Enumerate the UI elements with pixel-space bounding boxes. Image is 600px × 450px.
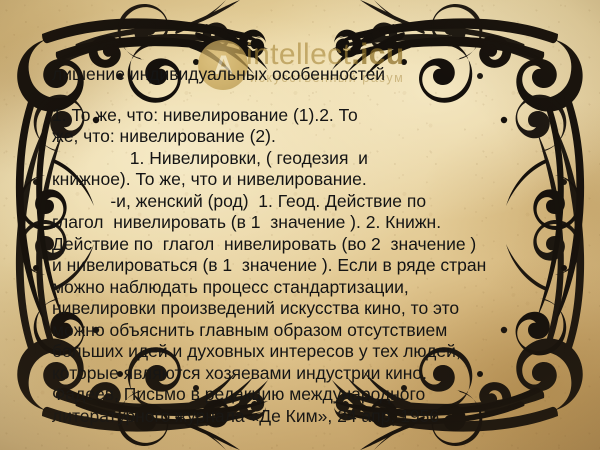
article-heading: лишение индивидуальных особенностей bbox=[52, 64, 552, 85]
article-body: 1. То же, что: нивелирование (1).2. То ж… bbox=[52, 105, 552, 428]
parchment-page: A intellect.icu искусственный разум лише… bbox=[0, 0, 600, 450]
article-content: лишение индивидуальных особенностей 1. Т… bbox=[52, 64, 552, 427]
